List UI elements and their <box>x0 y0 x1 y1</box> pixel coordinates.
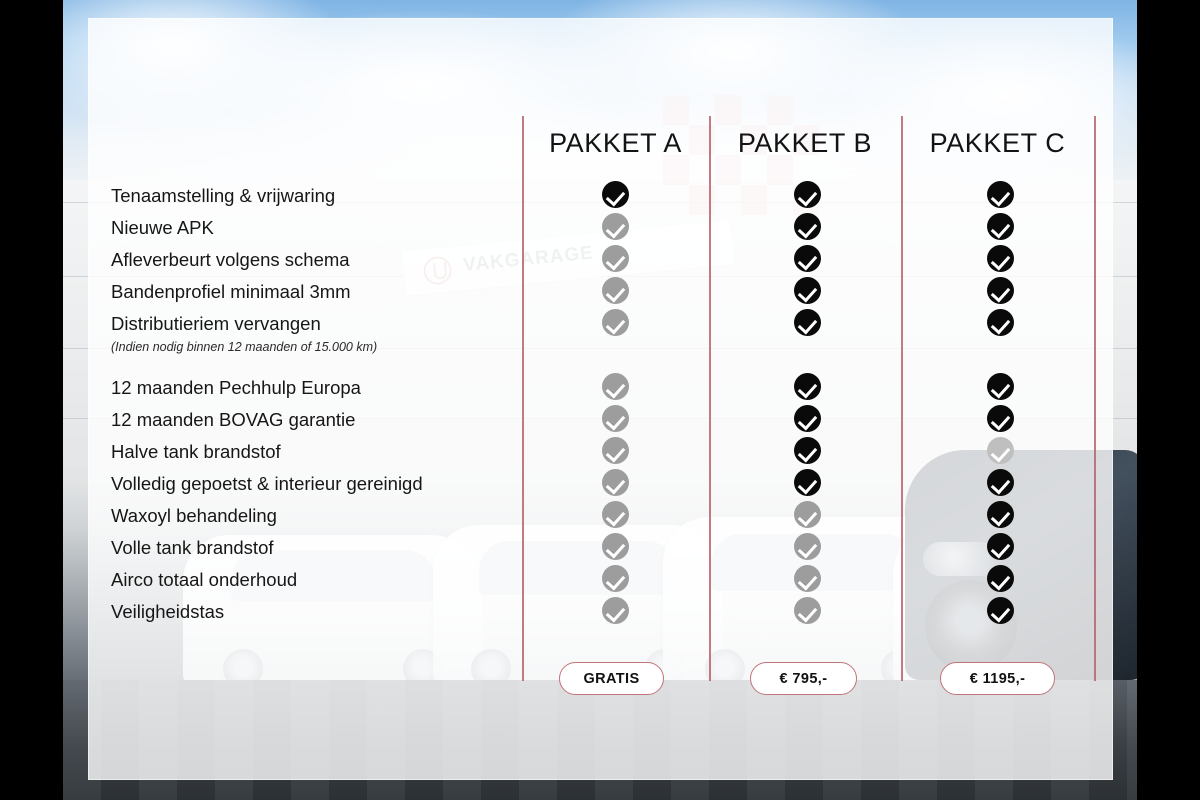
check-icon-c-10 <box>987 533 1014 560</box>
check-icon-b-5 <box>794 373 821 400</box>
price-badge-pakket-b[interactable]: € 795,- <box>750 662 857 695</box>
price-badge-pakket-a[interactable]: GRATIS <box>559 662 664 695</box>
check-icon-c-8 <box>987 469 1014 496</box>
check-icon-c-5 <box>987 373 1014 400</box>
feature-label: Volle tank brandstof <box>111 539 274 558</box>
feature-label: 12 maanden Pechhulp Europa <box>111 379 361 398</box>
check-icon-a-0 <box>602 181 629 208</box>
check-icon-b-8 <box>794 469 821 496</box>
check-icon-c-7 <box>987 437 1014 464</box>
feature-label: Nieuwe APK <box>111 219 214 238</box>
feature-note: (Indien nodig binnen 12 maanden of 15.00… <box>111 340 377 354</box>
check-icon-a-6 <box>602 405 629 432</box>
comparison-card: PAKKET A PAKKET B PAKKET C Tenaamstellin… <box>88 18 1113 780</box>
check-icon-a-5 <box>602 373 629 400</box>
feature-label: Distributieriem vervangen <box>111 315 321 334</box>
price-badge-pakket-c[interactable]: € 1195,- <box>940 662 1055 695</box>
check-icon-b-10 <box>794 533 821 560</box>
check-icon-a-11 <box>602 565 629 592</box>
check-icon-a-2 <box>602 245 629 272</box>
column-divider-mid <box>709 116 711 681</box>
check-icon-a-1 <box>602 213 629 240</box>
check-icon-c-11 <box>987 565 1014 592</box>
check-icon-b-6 <box>794 405 821 432</box>
check-icon-b-11 <box>794 565 821 592</box>
check-icon-b-9 <box>794 501 821 528</box>
feature-label: Volledig gepoetst & interieur gereinigd <box>111 475 423 494</box>
check-icon-a-7 <box>602 437 629 464</box>
feature-label: Tenaamstelling & vrijwaring <box>111 187 335 206</box>
check-icon-b-7 <box>794 437 821 464</box>
feature-label: Airco totaal onderhoud <box>111 571 297 590</box>
feature-label: 12 maanden BOVAG garantie <box>111 411 355 430</box>
check-icon-b-12 <box>794 597 821 624</box>
check-icon-c-1 <box>987 213 1014 240</box>
check-icon-c-12 <box>987 597 1014 624</box>
column-header-pakket-a: PAKKET A <box>522 120 709 166</box>
column-header-pakket-c: PAKKET C <box>901 120 1094 166</box>
feature-label: Bandenprofiel minimaal 3mm <box>111 283 351 302</box>
check-icon-c-3 <box>987 277 1014 304</box>
column-divider-end <box>1094 116 1096 681</box>
check-icon-c-6 <box>987 405 1014 432</box>
feature-label: Halve tank brandstof <box>111 443 281 462</box>
feature-label: Veiligheidstas <box>111 603 224 622</box>
feature-label: Afleverbeurt volgens schema <box>111 251 350 270</box>
check-icon-c-2 <box>987 245 1014 272</box>
check-icon-a-9 <box>602 501 629 528</box>
check-icon-a-4 <box>602 309 629 336</box>
check-icon-b-0 <box>794 181 821 208</box>
check-icon-a-10 <box>602 533 629 560</box>
check-icon-b-2 <box>794 245 821 272</box>
check-icon-b-4 <box>794 309 821 336</box>
check-icon-b-1 <box>794 213 821 240</box>
check-icon-c-0 <box>987 181 1014 208</box>
check-icon-c-4 <box>987 309 1014 336</box>
check-icon-a-3 <box>602 277 629 304</box>
column-divider-right <box>901 116 903 681</box>
check-icon-b-3 <box>794 277 821 304</box>
column-divider-left <box>522 116 524 681</box>
check-icon-c-9 <box>987 501 1014 528</box>
check-icon-a-8 <box>602 469 629 496</box>
column-header-pakket-b: PAKKET B <box>709 120 901 166</box>
feature-label: Waxoyl behandeling <box>111 507 277 526</box>
screenshot-stage: VAKGARAGE <box>0 0 1200 800</box>
package-comparison-table: PAKKET A PAKKET B PAKKET C Tenaamstellin… <box>89 19 1112 779</box>
check-icon-a-12 <box>602 597 629 624</box>
